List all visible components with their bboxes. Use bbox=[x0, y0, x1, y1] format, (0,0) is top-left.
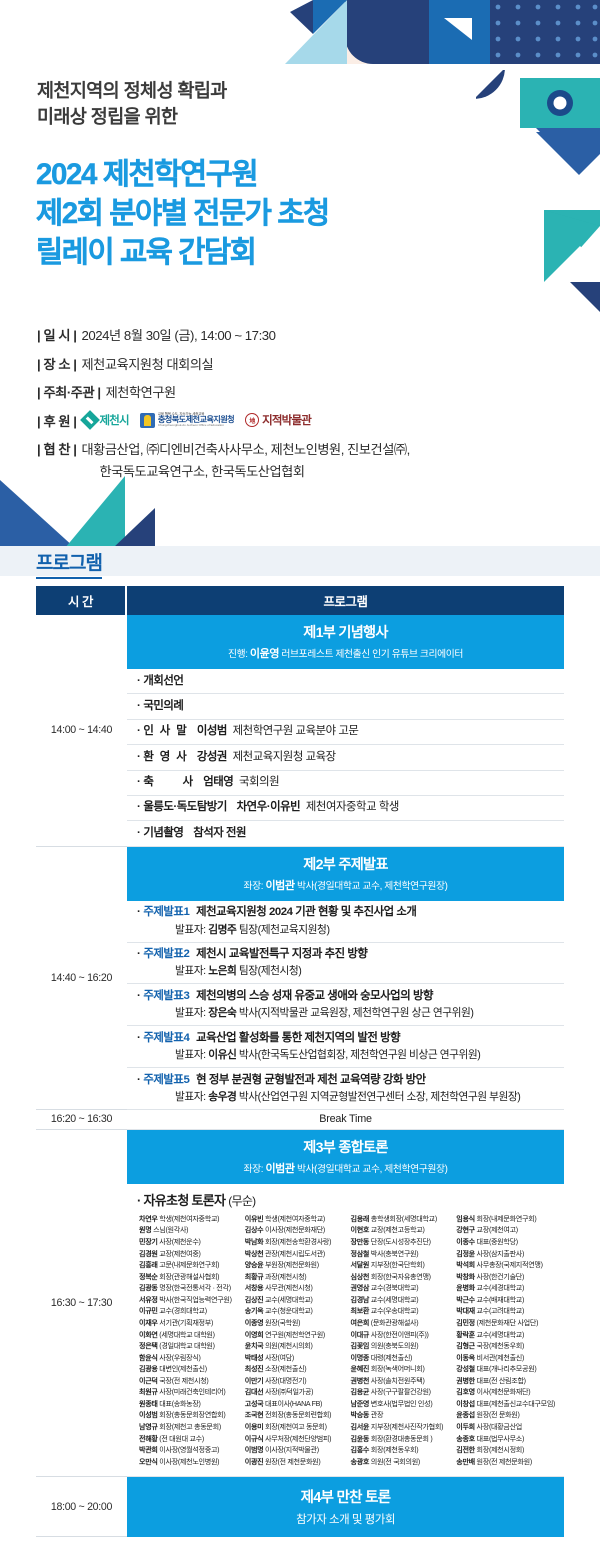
discussant-affiliation: 사장(제천운수) bbox=[158, 1238, 201, 1246]
discussant-name: 이화연 bbox=[139, 1331, 158, 1339]
section-3-body: 제3부 종합토론 좌장: 이범관 박사(경일대학교 교수, 제천학연구원장) ·… bbox=[127, 1130, 564, 1477]
discussant-affiliation: 전회장(총동문회련합회) bbox=[263, 1411, 331, 1419]
discussant-name: 박창화 bbox=[456, 1273, 475, 1281]
bullet-icon: · bbox=[137, 906, 140, 918]
section-3-chair: 좌장: 이범관 박사(경일대학교 교수, 제천학연구원장) bbox=[131, 1160, 560, 1176]
discussant-entry: 송만배 원장(전 제천문화원) bbox=[456, 1457, 558, 1469]
talk-presenter: 발표자: 이유신 박사(한국독도산업협회장, 제천학연구원 비상근 연구위원) bbox=[137, 1048, 556, 1062]
discussant-entry: 남준영 변호사(법무법인 인성) bbox=[351, 1399, 453, 1411]
item-label: 국민의례 bbox=[143, 700, 183, 712]
discussant-affiliation: 고문(내제문화연구회) bbox=[158, 1261, 220, 1269]
discussant-affiliation: (세명대학교 대학원) bbox=[158, 1331, 215, 1339]
discussant-name: 원종태 bbox=[139, 1400, 158, 1408]
discussant-name: 김민정 bbox=[456, 1319, 475, 1327]
section-2-chair-name: 이범관 bbox=[265, 880, 294, 892]
list-item: ·축 사 엄태영 국회의원 bbox=[127, 771, 564, 796]
discussant-entry: 김광동 명장(한국전통서각 · 전각) bbox=[139, 1283, 241, 1295]
section-1-host-name: 이윤영 bbox=[250, 648, 279, 660]
discussant-affiliation: 국장(제천동우회) bbox=[475, 1342, 524, 1350]
discussant-name: 장만동 bbox=[351, 1238, 370, 1246]
discussant-affiliation: 사장(㈜덕일가공) bbox=[263, 1388, 313, 1396]
info-label-sponsors: | 후 원 | bbox=[37, 411, 77, 430]
bullet-icon: · bbox=[137, 725, 140, 737]
discussant-affiliation: 회장(제천여고 동문회) bbox=[263, 1423, 326, 1431]
presenter-prefix: 발표자: bbox=[175, 965, 206, 977]
discussant-affiliation: 의원(제천시의회) bbox=[263, 1342, 312, 1350]
discussant-name: 권병한 bbox=[456, 1377, 475, 1385]
discussant-name: 김경남 bbox=[351, 1296, 370, 1304]
discussant-affiliation: 비서관(제천출신) bbox=[475, 1354, 524, 1362]
item-label: 환 영 사 bbox=[143, 751, 188, 763]
discussant-name: 김호영 bbox=[456, 1388, 475, 1396]
discussant-entry: 박상천 관장(제천시립도서관) bbox=[245, 1249, 347, 1261]
list-item: ·국민의례 bbox=[127, 694, 564, 719]
presenter-prefix: 발표자: bbox=[175, 924, 206, 936]
discussant-affiliation: 원장(전 문화원) bbox=[475, 1411, 520, 1419]
talk-title: 교육산업 활성화를 통한 제천지역의 발전 방향 bbox=[196, 1032, 400, 1044]
discussant-affiliation: 대표(송화농장) bbox=[158, 1400, 201, 1408]
small-navy-triangle-decoration bbox=[113, 508, 155, 548]
discussant-name: 박상천 bbox=[245, 1250, 264, 1258]
discussant-entry: 원종태 대표(송화농장) bbox=[139, 1399, 241, 1411]
cooperation-line-1: 대황금산업, ㈜디엔비건축사사무소, 제천노인병원, 진보건설㈜, bbox=[82, 439, 410, 458]
teal-chevron-decoration bbox=[500, 210, 600, 315]
section-2-time: 14:40 ~ 16:20 bbox=[36, 847, 127, 1110]
discussant-name: 서유정 bbox=[139, 1296, 158, 1304]
discussant-name: 윤혜진 bbox=[351, 1365, 370, 1373]
discussant-name: 이근덕 bbox=[139, 1377, 158, 1385]
item-label: 울릉도·독도탐방기 bbox=[143, 801, 227, 813]
discussant-entry: 정삼철 박사(충북연구원) bbox=[351, 1249, 453, 1261]
discussant-affiliation: 이사(제천문화재단) bbox=[475, 1388, 530, 1396]
discussant-name: 박근수 bbox=[456, 1296, 475, 1304]
discussant-affiliation: 대표(전 산림조합) bbox=[475, 1377, 526, 1385]
info-row-venue: | 장 소 | 제천교육지원청 대회의실 bbox=[37, 354, 567, 373]
discussant-affiliation: 회장(환경대총동문회 ) bbox=[369, 1435, 432, 1443]
discussant-entry: 심상천 회장(한국자유총연맹) bbox=[351, 1272, 453, 1284]
discussant-affiliation: 이사장(제천문화재단) bbox=[263, 1226, 325, 1234]
discussant-affiliation: 사무관(제천시청) bbox=[263, 1284, 312, 1292]
discussant-entry: 최성진 소장(제천출신) bbox=[245, 1364, 347, 1376]
list-item: ·울릉도·독도탐방기 차연우·이유빈 제천여자중학교 학생 bbox=[127, 796, 564, 821]
discussant-affiliation: 회장(내제문화연구회) bbox=[475, 1215, 537, 1223]
discussant-affiliation: 대표(중원학당) bbox=[475, 1238, 518, 1246]
break-label: Break Time bbox=[127, 1110, 564, 1130]
discussant-affiliation: 교장(제천여고) bbox=[475, 1226, 518, 1234]
section-2-chair: 좌장: 이범관 박사(경일대학교 교수, 제천학연구원장) bbox=[131, 877, 560, 893]
discussant-affiliation: 원장(전 제천문화원) bbox=[263, 1458, 320, 1466]
presenter-suffix: 박사(한국독도산업협회장, 제천학연구원 비상근 연구위원) bbox=[239, 1049, 480, 1061]
diamond-icon bbox=[80, 410, 100, 430]
discussant-affiliation: 연구원(제천학연구원) bbox=[263, 1331, 325, 1339]
discussant-entry: 이규민 교수(경희대학교) bbox=[139, 1306, 241, 1318]
discussant-name: 최황규 bbox=[245, 1273, 264, 1281]
discussant-affiliation: 학생(제천여자중학교) bbox=[158, 1215, 220, 1223]
discussant-list-title: · 자유초청 토론자 bbox=[137, 1193, 225, 1208]
item-speaker: 이성범 bbox=[197, 725, 227, 737]
discussant-name: 송종호 bbox=[456, 1435, 475, 1443]
discussant-affiliation: 사장(솔치전원주택) bbox=[369, 1377, 424, 1385]
discussant-affiliation: 변호사(법무법인 인성) bbox=[369, 1400, 432, 1408]
table-row: 14:00 ~ 14:40 제1부 기념행사 진행: 이윤영 러브포레스트 제천… bbox=[36, 615, 564, 847]
dotted-grid-decoration bbox=[490, 0, 600, 64]
talk-presenter: 발표자: 노은희 팀장(제천시청) bbox=[137, 964, 556, 978]
subtitle-line-2: 미래상 정립을 위한 bbox=[37, 104, 457, 130]
discussant-name: 권영삼 bbox=[351, 1284, 370, 1292]
discussant-entry: 김민정 (제천문화재단 사업단) bbox=[456, 1318, 558, 1330]
discussant-affiliation: 회장(제천동우회) bbox=[369, 1446, 418, 1454]
discussant-affiliation: 회장(한국자유총연맹) bbox=[369, 1273, 431, 1281]
discussant-entry: 권병한 대표(전 산림조합) bbox=[456, 1376, 558, 1388]
discussant-affiliation: 사무처장(제천단양범피) bbox=[263, 1435, 331, 1443]
section-3-chair-prefix: 좌장: bbox=[244, 1164, 264, 1175]
table-row: 16:30 ~ 17:30 제3부 종합토론 좌장: 이범관 박사(경일대학교 … bbox=[36, 1130, 564, 1477]
discussant-name: 김꽃임 bbox=[351, 1342, 370, 1350]
discussant-affiliation: 사장(우림장식) bbox=[158, 1354, 201, 1362]
discussant-entry: 이용미 회장(제천여고 동문회) bbox=[245, 1422, 347, 1434]
poster-title: 2024 제천학연구원 제2회 분야별 전문가 초청 릴레이 교육 간담회 bbox=[36, 156, 506, 273]
discussant-affiliation: 원장(전 제천문화원) bbox=[475, 1458, 532, 1466]
section-4-title: 제4부 만찬 토론 bbox=[131, 1486, 560, 1507]
list-item: ·주제발표4 교육산업 활성화를 통한 제천지역의 발전 방향 발표자: 이유신… bbox=[127, 1026, 564, 1068]
discussant-entry: 이근덕 국장(전 제천시청) bbox=[139, 1376, 241, 1388]
discussant-entry: 송기옥 교수(청운대학교) bbox=[245, 1306, 347, 1318]
discussant-name: 이유빈 bbox=[245, 1215, 264, 1223]
discussant-entry: 정은택 (경일대학교 대학원) bbox=[139, 1341, 241, 1353]
discussant-affiliation: 의원(전 국회의원) bbox=[369, 1458, 420, 1466]
item-speaker: 강성권 bbox=[197, 751, 227, 763]
item-speaker: 참석자 전원 bbox=[193, 827, 246, 839]
item-label: 개회선언 bbox=[143, 675, 183, 687]
discussant-name: 김흥래 bbox=[139, 1261, 158, 1269]
presenter-suffix: 팀장(제천시청) bbox=[239, 965, 302, 977]
discussant-name: 전해황 bbox=[139, 1435, 158, 1443]
discussant-name: 이만기 bbox=[245, 1377, 264, 1385]
discussant-name: 정복순 bbox=[139, 1273, 158, 1281]
bullet-icon: · bbox=[137, 801, 140, 813]
talk-presenter: 발표자: 송우경 박사(산업연구원 지역균형발전연구센터 소장, 제천학연구원 … bbox=[137, 1090, 556, 1104]
section-1-body: 제1부 기념행사 진행: 이윤영 러브포레스트 제천출신 인기 유튜브 크리에이… bbox=[127, 615, 564, 847]
discussant-name: 민장기 bbox=[139, 1238, 158, 1246]
discussant-entry: 김전한 회장(제천시정회) bbox=[456, 1445, 558, 1457]
jijeok-museum-logo-text: 지적박물관 bbox=[262, 412, 311, 428]
jecheon-city-logo-text: 제천시 bbox=[100, 412, 129, 428]
sponsor-logo-strip: 제천시 교육 행복 수도, 지속가능 세종교육 충청북도제천교육지원청 Chun… bbox=[83, 412, 312, 428]
discussant-entry: 김윤동 회장(환경대총동문회 ) bbox=[351, 1434, 453, 1446]
section-3-time: 16:30 ~ 17:30 bbox=[36, 1130, 127, 1477]
discussant-affiliation: 단장(도시성장추진단) bbox=[369, 1238, 431, 1246]
discussant-entry: 이만기 사장(대명전기) bbox=[245, 1376, 347, 1388]
discussant-entry: 서달원 지부장(한국단학회) bbox=[351, 1260, 453, 1272]
talk-title: 제천의병의 스승 성재 유중교 생애와 숭모사업의 방향 bbox=[196, 990, 433, 1002]
discussant-grid: 차연우 학생(제천여자중학교)원명 스님(원각사)민장기 사장(제천운수)김경원… bbox=[127, 1212, 564, 1477]
list-item: ·개회선언 bbox=[127, 669, 564, 694]
discussant-entry: 박승동 관장 bbox=[351, 1410, 453, 1422]
info-row-date: | 일 시 | 2024년 8월 30일 (금), 14:00 ~ 17:30 bbox=[37, 325, 567, 344]
education-office-name-english: Chungcheongbuk-do Jecheon Office of Educ… bbox=[158, 424, 234, 427]
discussant-name: 김경원 bbox=[139, 1250, 158, 1258]
discussant-name: 윤종섭 bbox=[456, 1411, 475, 1419]
section-3-chair-name: 이범관 bbox=[265, 1163, 294, 1175]
discussant-entry: 김대선 사장(㈜덕일가공) bbox=[245, 1387, 347, 1399]
discussant-entry: 이대규 사장(한전이앤피(주)) bbox=[351, 1330, 453, 1342]
discussant-name: 차연우 bbox=[139, 1215, 158, 1223]
discussant-name: 김광용 bbox=[139, 1365, 158, 1373]
discussant-name: 김윤동 bbox=[351, 1435, 370, 1443]
discussant-name: 이종영 bbox=[245, 1319, 264, 1327]
section-1-host-suffix: 러브포레스트 제천출신 인기 유튜브 크리에이터 bbox=[281, 649, 463, 660]
discussant-name: 이동옥 bbox=[456, 1354, 475, 1362]
discussant-entry: 강성철 대표(개나리추모공원) bbox=[456, 1364, 558, 1376]
discussant-affiliation: (문화관광해설사) bbox=[369, 1319, 418, 1327]
discussant-name: 박관희 bbox=[139, 1446, 158, 1454]
table-header-time: 시 간 bbox=[36, 586, 127, 615]
discussant-name: 김광동 bbox=[139, 1284, 158, 1292]
discussant-name: 이창섭 bbox=[456, 1400, 475, 1408]
discussant-entry: 이화연 (세명대학교 대학원) bbox=[139, 1330, 241, 1342]
section-3-title: 제3부 종합토론 bbox=[131, 1137, 560, 1157]
talk-tag: 주제발표2 bbox=[143, 948, 189, 960]
discussant-entry: 이동옥 비서관(제천출신) bbox=[456, 1353, 558, 1365]
table-row: 14:40 ~ 16:20 제2부 주제발표 좌장: 이범관 박사(경일대학교 … bbox=[36, 847, 564, 1110]
discussant-affiliation: 스님(원각사) bbox=[151, 1226, 188, 1234]
discussant-entry: 권영삼 교수(경북대학교) bbox=[351, 1283, 453, 1295]
bullet-icon: · bbox=[137, 675, 140, 687]
presenter-name: 송우경 bbox=[208, 1091, 236, 1103]
bullet-icon: · bbox=[137, 827, 140, 839]
discussant-name: 권병천 bbox=[351, 1377, 370, 1385]
discussant-name: 김홍수 bbox=[351, 1446, 370, 1454]
discussant-affiliation: 원장(국학원) bbox=[263, 1319, 300, 1327]
discussant-affiliation: 교수(세경대학교) bbox=[475, 1284, 524, 1292]
discussant-entry: 윤치국 의원(제천시의회) bbox=[245, 1341, 347, 1353]
discussant-name: 김용래 bbox=[351, 1215, 370, 1223]
discussant-name: 박석회 bbox=[456, 1261, 475, 1269]
list-item: ·주제발표5 현 정부 분권형 균형발전과 제천 교육역량 강화 방안 발표자:… bbox=[127, 1068, 564, 1110]
info-value-date: 2024년 8월 30일 (금), 14:00 ~ 17:30 bbox=[82, 325, 276, 344]
discussant-affiliation: 사장(삼지출판사) bbox=[475, 1250, 524, 1258]
discussant-entry: 박남화 회장(제천송학환경사랑) bbox=[245, 1237, 347, 1249]
discussant-affiliation: 교장(제천고등학교) bbox=[369, 1226, 424, 1234]
item-speaker: 차연우·이유빈 bbox=[237, 801, 301, 813]
section-4-time: 18:00 ~ 20:00 bbox=[36, 1477, 127, 1537]
discussant-name: 조국현 bbox=[245, 1411, 264, 1419]
discussant-affiliation: 교수(우송대학교) bbox=[369, 1307, 418, 1315]
discussant-affiliation: 대표이사(HANA FB) bbox=[263, 1400, 322, 1408]
discussant-name: 임용식 bbox=[456, 1215, 475, 1223]
discussant-name: 심상천 bbox=[351, 1273, 370, 1281]
list-item: ·인 사 말 이성범 제천학연구원 교육분야 고문 bbox=[127, 720, 564, 745]
discussant-name: 여은희 bbox=[351, 1319, 370, 1327]
section-2-chair-suffix: 박사(경일대학교 교수, 제천학연구원장) bbox=[297, 881, 448, 892]
talk-presenter: 발표자: 장은숙 박사(지적박물관 교육원장, 제천학연구원 상근 연구위원) bbox=[137, 1006, 556, 1020]
item-desc: 제천학연구원 교육분야 고문 bbox=[233, 725, 359, 737]
section-2-body: 제2부 주제발표 좌장: 이범관 박사(경일대학교 교수, 제천학연구원장) ·… bbox=[127, 847, 564, 1110]
cooperation-line-2: 한국독도교육연구소, 한국독도산업협회 bbox=[82, 461, 410, 480]
table-header-program: 프로그램 bbox=[127, 586, 564, 615]
discussant-entry: 박석회 사무총장(국제지적연맹) bbox=[456, 1260, 558, 1272]
discussant-entry: 박창화 사장(한건기술단) bbox=[456, 1272, 558, 1284]
discussant-name: 김형근 bbox=[456, 1342, 475, 1350]
jijeok-museum-logo: 地 지적박물관 bbox=[245, 412, 311, 428]
discussant-entry: 이종수 대표(중원학당) bbox=[456, 1237, 558, 1249]
discussant-affiliation: 사장(한전이앤피(주)) bbox=[369, 1331, 428, 1339]
info-value-venue: 제천교육지원청 대회의실 bbox=[82, 354, 214, 373]
discussant-affiliation: 교수(배재대학교) bbox=[475, 1296, 524, 1304]
title-line-3: 릴레이 교육 간담회 bbox=[36, 234, 506, 273]
discussant-name: 김전한 bbox=[456, 1446, 475, 1454]
talk-tag: 주제발표3 bbox=[143, 990, 189, 1002]
discussant-affiliation: (전 대원대 교수) bbox=[158, 1435, 204, 1443]
discussant-affiliation: 회장(총동문회장연합회) bbox=[158, 1411, 226, 1419]
discussant-affiliation: 대변인(제천출신) bbox=[158, 1365, 207, 1373]
discussant-affiliation: 사장(대황금산업 bbox=[475, 1423, 522, 1431]
discussant-name: 김상진 bbox=[245, 1296, 264, 1304]
discussant-affiliation: 학생(제천여자중학교) bbox=[263, 1215, 325, 1223]
presenter-name: 장은숙 bbox=[208, 1007, 236, 1019]
discussant-entry: 오만식 이사장(제천노인병원) bbox=[139, 1457, 241, 1469]
presenter-suffix: 팀장(제천교육지원청) bbox=[239, 924, 330, 936]
discussant-affiliation: 관장(제천시립도서관) bbox=[263, 1250, 325, 1258]
discussant-entry: 김상진 교수(세명대학교) bbox=[245, 1295, 347, 1307]
info-label-cooperation: | 협 찬 | bbox=[37, 439, 77, 458]
bullet-icon: · bbox=[137, 1074, 140, 1086]
discussant-entry: 김광용 대변인(제천출신) bbox=[139, 1364, 241, 1376]
discussant-name: 이현호 bbox=[351, 1226, 370, 1234]
section-4-subtitle: 참가자 소개 및 평가회 bbox=[131, 1511, 560, 1527]
left-navy-triangle-decoration bbox=[0, 480, 75, 548]
discussant-entry: 이성범 회장(총동문회장연합회) bbox=[139, 1410, 241, 1422]
break-time: 16:20 ~ 16:30 bbox=[36, 1110, 127, 1130]
discussant-entry: 고성국 대표이사(HANA FB) bbox=[245, 1399, 347, 1411]
half-circle-decoration bbox=[476, 70, 512, 106]
discussant-entry: 최황규 과장(제천시청) bbox=[245, 1272, 347, 1284]
discussant-affiliation: 교수(세명대학교) bbox=[475, 1331, 524, 1339]
discussant-entry: 김호영 이사(제천문화재단) bbox=[456, 1387, 558, 1399]
discussant-entry: 권병천 사장(솔치전원주택) bbox=[351, 1376, 453, 1388]
discussant-entry: 황락훈 교수(세명대학교) bbox=[456, 1330, 558, 1342]
discussant-affiliation: 회장(제천송학환경사랑) bbox=[263, 1238, 331, 1246]
discussant-name: 송광호 bbox=[351, 1458, 370, 1466]
discussant-name: 남영규 bbox=[139, 1423, 158, 1431]
bullet-icon: · bbox=[137, 700, 140, 712]
list-item: ·주제발표1 제천교육지원청 2024 기관 현황 및 추진사업 소개 발표자:… bbox=[127, 901, 564, 943]
chungbuk-jecheon-education-office-logo: 교육 행복 수도, 지속가능 세종교육 충청북도제천교육지원청 Chungche… bbox=[140, 413, 234, 428]
list-item: ·환 영 사 강성권 제천교육지원청 교육장 bbox=[127, 745, 564, 770]
discussant-affiliation: 지부장(한국단학회) bbox=[369, 1261, 424, 1269]
discussant-name: 이광진 bbox=[245, 1458, 264, 1466]
discussant-entry: 서창용 사무관(제천시청) bbox=[245, 1283, 347, 1295]
discussant-affiliation: 사장(미래건축인테리어) bbox=[158, 1388, 226, 1396]
discussant-name: 송기옥 bbox=[245, 1307, 264, 1315]
discussant-name: 송만배 bbox=[456, 1458, 475, 1466]
item-label: 축 사 bbox=[143, 776, 194, 788]
section-3-chair-suffix: 박사(경일대학교 교수, 제천학연구원장) bbox=[297, 1164, 448, 1175]
discussant-name: 오만식 bbox=[139, 1458, 158, 1466]
navy-chevron-decoration bbox=[512, 124, 600, 196]
discussant-entry: 김상수 이사장(제천문화재단) bbox=[245, 1225, 347, 1237]
discussant-name: 이명종 bbox=[351, 1354, 370, 1362]
discussant-affiliation: 교수(세명대학교) bbox=[369, 1296, 418, 1304]
section-4-header: 제4부 만찬 토론 참가자 소개 및 평가회 bbox=[127, 1477, 564, 1537]
discussant-entry: 서유정 박사(한국직업능력연구원) bbox=[139, 1295, 241, 1307]
discussant-entry: 조국현 전회장(총동문회련합회) bbox=[245, 1410, 347, 1422]
talk-tag: 주제발표4 bbox=[143, 1032, 189, 1044]
discussant-entry: 김용래 총학생회장(세명대학교) bbox=[351, 1214, 453, 1226]
discussant-affiliation: 명장(한국전통서각 · 전각) bbox=[158, 1284, 231, 1292]
discussant-affiliation: 교수(청운대학교) bbox=[263, 1307, 312, 1315]
discussant-affiliation: 사장(여담) bbox=[263, 1354, 294, 1362]
discussant-name: 강현구 bbox=[456, 1226, 475, 1234]
info-row-organizer: | 주최·주관 | 제천학연구원 bbox=[37, 382, 567, 401]
discussant-name: 고성국 bbox=[245, 1400, 264, 1408]
discussant-entry: 박태성 사장(여담) bbox=[245, 1353, 347, 1365]
discussant-name: 이두희 bbox=[456, 1423, 475, 1431]
section-1-title: 제1부 기념행사 bbox=[131, 622, 560, 642]
presenter-prefix: 발표자: bbox=[175, 1049, 206, 1061]
discussant-affiliation: 박사(충북연구원) bbox=[369, 1250, 418, 1258]
discussant-column-2: 이유빈 학생(제천여자중학교)김상수 이사장(제천문화재단)박남화 회장(제천송… bbox=[245, 1214, 347, 1468]
discussant-entry: 이영희 연구원(제천학연구원) bbox=[245, 1330, 347, 1342]
discussant-entry: 박대재 교수(고려대학교) bbox=[456, 1306, 558, 1318]
item-desc: 제천교육지원청 교육장 bbox=[233, 751, 336, 763]
discussant-entry: 김정윤 사장(삼지출판사) bbox=[456, 1249, 558, 1261]
list-item: ·기념촬영 참석자 전원 bbox=[127, 821, 564, 846]
discussant-name: 박태성 bbox=[245, 1354, 264, 1362]
item-desc: 국회의원 bbox=[239, 776, 279, 788]
discussant-entry: 이창섭 대표(제천출신교수대구모임) bbox=[456, 1399, 558, 1411]
discussant-entry: 김용균 사장(구구팔팔건강원) bbox=[351, 1387, 453, 1399]
discussant-name: 김서윤 bbox=[351, 1423, 370, 1431]
section-3-header: 제3부 종합토론 좌장: 이범관 박사(경일대학교 교수, 제천학연구원장) bbox=[127, 1130, 564, 1184]
discussant-name: 양승윤 bbox=[245, 1261, 264, 1269]
presenter-name: 이유신 bbox=[208, 1049, 236, 1061]
discussant-affiliation: 부원장(제천문화원) bbox=[263, 1261, 318, 1269]
discussant-name: 이범명 bbox=[245, 1446, 264, 1454]
discussant-list-order-note: (무순) bbox=[228, 1194, 255, 1208]
arrow-square-decoration bbox=[428, 0, 490, 64]
discussant-entry: 윤혜진 회장(녹색어머니회) bbox=[351, 1364, 453, 1376]
discussant-affiliation: 교수(고려대학교) bbox=[475, 1307, 524, 1315]
discussant-affiliation: 대령(제천출신) bbox=[369, 1354, 412, 1362]
table-row: 16:20 ~ 16:30 Break Time bbox=[36, 1110, 564, 1130]
triangle-decoration bbox=[285, 0, 347, 64]
discussant-name: 윤치국 bbox=[245, 1342, 264, 1350]
subtitle-line-1: 제천지역의 정체성 확립과 bbox=[37, 78, 457, 104]
discussant-affiliation: 대표(개나리추모공원) bbox=[475, 1365, 537, 1373]
discussant-entry: 남영규 회장(제천고 총동문회) bbox=[139, 1422, 241, 1434]
discussant-name: 이재우 bbox=[139, 1319, 158, 1327]
discussant-entry: 김꽃임 의원(충북도의원) bbox=[351, 1341, 453, 1353]
info-label-organizer: | 주최·주관 | bbox=[37, 382, 101, 401]
discussant-affiliation: (제천문화재단 사업단) bbox=[475, 1319, 538, 1327]
table-row: 18:00 ~ 20:00 제4부 만찬 토론 참가자 소개 및 평가회 bbox=[36, 1477, 564, 1537]
presenter-prefix: 발표자: bbox=[175, 1007, 206, 1019]
item-label: 기념촬영 bbox=[143, 827, 183, 839]
section-1-time: 14:00 ~ 14:40 bbox=[36, 615, 127, 847]
discussant-affiliation: 교수(경희대학교) bbox=[158, 1307, 207, 1315]
discussant-affiliation: 회장(관광해설사협회) bbox=[158, 1273, 220, 1281]
discussant-name: 이영희 bbox=[245, 1331, 264, 1339]
discussant-entry: 이범명 이사장(지적박물관) bbox=[245, 1445, 347, 1457]
discussant-affiliation: 의원(충북도의원) bbox=[369, 1342, 418, 1350]
discussant-name: 함윤식 bbox=[139, 1354, 158, 1362]
discussant-entry: 최원규 사장(미래건축인테리어) bbox=[139, 1387, 241, 1399]
talk-title: 제천교육지원청 2024 기관 현황 및 추진사업 소개 bbox=[196, 906, 416, 918]
discussant-affiliation: 서기관(기획재정부) bbox=[158, 1319, 213, 1327]
discussant-name: 박대재 bbox=[456, 1307, 475, 1315]
discussant-entry: 원명 스님(원각사) bbox=[139, 1225, 241, 1237]
